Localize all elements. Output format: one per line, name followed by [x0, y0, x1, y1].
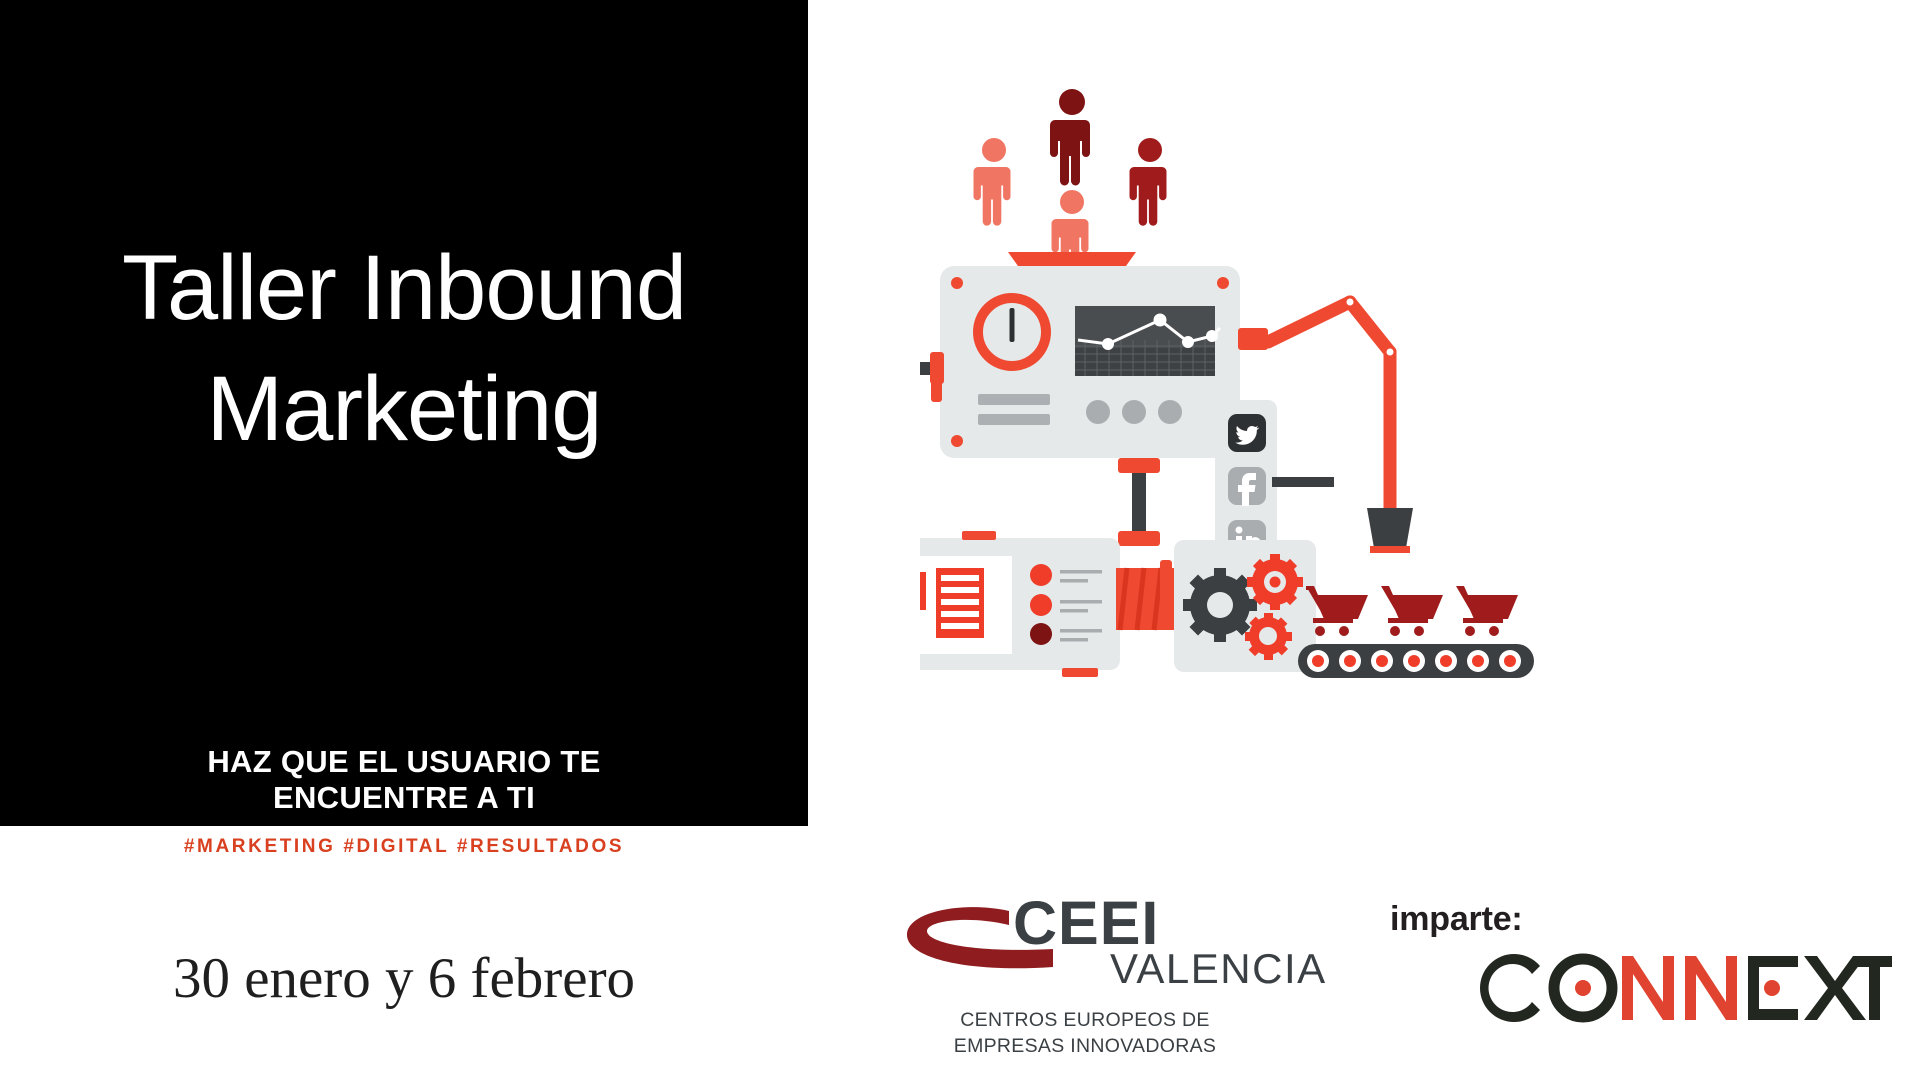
twitter-icon: [1228, 414, 1266, 452]
profile-card-icon: [920, 572, 926, 610]
page-title: Taller Inbound Marketing: [0, 228, 808, 471]
event-date: 30 enero y 6 febrero: [0, 946, 808, 1011]
robot-arm: [1268, 297, 1413, 553]
imparte-label: imparte:: [1390, 900, 1523, 939]
subtitle: HAZ QUE EL USUARIO TE ENCUENTRE A TI: [0, 744, 808, 816]
connext-logo-block: imparte:: [1390, 900, 1910, 1060]
shopping-cart-icon-3: [1456, 586, 1518, 636]
person-icon-3: [1130, 138, 1167, 226]
shopping-cart-icon-2: [1381, 586, 1443, 636]
inbound-marketing-illustration: [920, 70, 1540, 730]
connext-logo: [1452, 942, 1892, 1039]
hashtag-list: #MARKETING #DIGITAL #RESULTADOS: [0, 836, 808, 858]
ceei-logo: CEEI VALENCIA CENTROS EUROPEOS DE EMPRES…: [905, 895, 1265, 1075]
title-line-2: Marketing: [0, 349, 808, 470]
connext-dot-e: [1764, 980, 1780, 996]
subtitle-line-1: HAZ QUE EL USUARIO TE: [0, 744, 808, 780]
ceei-location: VALENCIA: [1110, 948, 1327, 990]
conveyor-belt: [1298, 644, 1534, 678]
ceei-tagline: CENTROS EUROPEOS DE EMPRESAS INNOVADORAS: [905, 1007, 1265, 1060]
ceei-tagline-line-1: CENTROS EUROPEOS DE: [905, 1007, 1265, 1033]
title-line-1: Taller Inbound: [0, 228, 808, 349]
person-icon-1: [1050, 89, 1090, 186]
machine-gears-unit: [1160, 540, 1316, 672]
document-icon: [936, 568, 984, 638]
gear-dark-icon: [1183, 568, 1257, 642]
connext-dot-o: [1575, 980, 1591, 996]
ceei-logomark: CEEI VALENCIA: [905, 895, 1265, 1000]
pipe-vertical-center: [1118, 458, 1160, 546]
ceei-tagline-line-2: EMPRESAS INNOVADORAS: [905, 1033, 1265, 1059]
person-icon-2: [974, 138, 1011, 226]
machine-left-database: [920, 531, 1120, 677]
subtitle-line-2: ENCUENTRE A TI: [0, 780, 808, 816]
facebook-icon: [1228, 467, 1266, 506]
chart-screen: [1075, 306, 1220, 376]
